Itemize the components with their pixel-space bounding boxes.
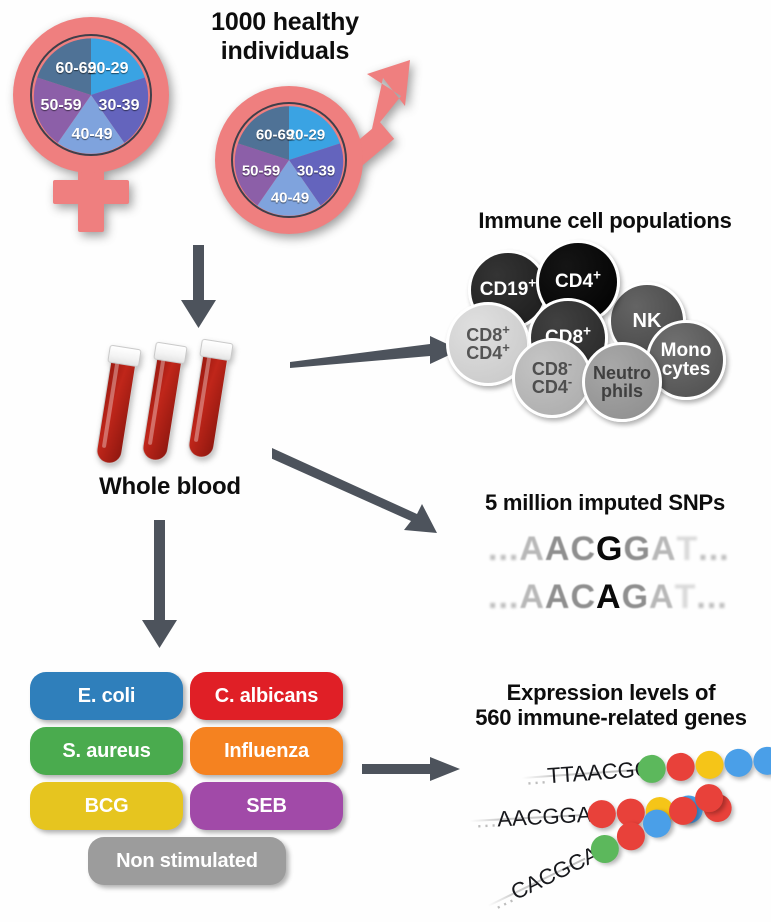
snp-sequence-block: ...AACGGAT... ...AACAGAT... [488,530,738,620]
bead [637,754,667,784]
snp-base: T [677,530,699,569]
strand-sequence: ...AACGGAT [475,801,603,834]
male-slice-label-40-49: 40-49 [271,190,309,207]
immune-cell-cluster: NK CD19+ CD4+ CD8+CD4+ CD8+ Monocytes CD… [460,240,765,420]
expression-strand: ...CACGCAA [481,769,747,921]
expression-heading: Expression levels of 560 immune-related … [455,680,767,731]
snp-base: A [519,578,545,617]
cell-label-cd4: CD4+ [555,272,601,291]
snp-base: T [675,578,697,617]
snp-ellipsis-left: ... [488,578,519,617]
genotype-heading: 5 million imputed SNPs [450,490,760,515]
female-symbol-crossbar [53,180,129,204]
arrow-blood-to-snps [272,448,462,538]
bead [666,752,696,782]
blood-tube-body [141,352,184,463]
bead [587,799,616,828]
expression-heading-line1: Expression levels of [455,680,767,705]
cell-label-nk: NK [633,311,662,331]
stimulation-item-influenza[interactable]: Influenza [190,727,343,775]
snp-ellipsis-right: ... [696,578,727,617]
arrow-cohort-to-blood [175,245,225,330]
female-age-pie: 20-29 30-39 40-49 50-59 60-69 [30,34,152,156]
strand-sequence: ...TTAACGG [525,756,653,791]
male-slice-label-60-69: 60-69 [256,127,294,144]
snp-base: C [570,530,596,569]
male-symbol: 20-29 30-39 40-49 50-59 60-69 [205,38,420,238]
snp-variant-base: G [596,530,623,569]
blood-tube-body [187,349,230,460]
expression-strand-group: ...TTAACGG ...AACGGAT ...CACGCAA [470,740,770,915]
stimulation-item-e-coli[interactable]: E. coli [30,672,183,720]
male-age-pie: 20-29 30-39 40-49 50-59 60-69 [231,102,347,218]
stimulation-item-non-stimulated[interactable]: Non stimulated [88,837,286,885]
snp-base: A [545,578,571,617]
female-symbol: 20-29 30-39 40-49 50-59 60-69 [8,12,178,237]
snp-sequence-allele-a: ...AACAGAT... [488,578,728,617]
expression-heading-line2: 560 immune-related genes [455,705,767,730]
snp-base: A [649,578,675,617]
arrow-stimulation-to-expression [362,753,467,785]
stimulation-item-seb[interactable]: SEB [190,782,343,830]
snp-ellipsis-left: ... [488,530,519,569]
snp-sequence-allele-g: ...AACGGAT... [488,530,730,569]
cell-label-monocytes: Monocytes [661,341,712,380]
blood-tube-gloss [148,360,165,446]
male-slice-label-30-39: 30-39 [297,163,335,180]
stimulation-panel: E. coli C. albicans S. aureus Influenza … [30,672,350,897]
snp-base: G [622,578,649,617]
blood-tube-body [95,355,138,466]
female-slice-label-60-69: 60-69 [56,60,97,78]
female-slice-label-50-59: 50-59 [41,97,82,115]
male-slice-label-50-59: 50-59 [242,163,280,180]
cell-neutrophils: Neutrophils [582,342,662,422]
blood-tube-gloss [194,357,211,443]
cell-cd8-cd4-double-negative: CD8-CD4- [512,338,592,418]
cell-label-neutrophils: Neutrophils [593,364,651,401]
arrow-blood-to-cells [290,330,465,370]
snp-base: C [570,578,596,617]
snp-ellipsis-right: ... [698,530,729,569]
blood-tube-gloss [102,363,119,449]
stimulation-item-s-aureus[interactable]: S. aureus [30,727,183,775]
snp-base: G [623,530,650,569]
strand-beads [637,746,771,784]
cell-label-cd19: CD19+ [480,280,537,299]
cell-label-cd8-cd4-dp: CD8+CD4+ [466,326,510,363]
snp-base: A [651,530,677,569]
snp-base: A [519,530,545,569]
snp-base: A [545,530,571,569]
bead [752,746,771,776]
female-slice-label-40-49: 40-49 [72,126,113,144]
whole-blood-label: Whole blood [60,473,280,501]
immune-cells-heading: Immune cell populations [450,208,760,233]
stimulation-item-bcg[interactable]: BCG [30,782,183,830]
stimulation-item-c-albicans[interactable]: C. albicans [190,672,343,720]
female-slice-label-30-39: 30-39 [99,97,140,115]
snp-variant-base: A [596,578,622,617]
whole-blood-group [95,335,265,495]
cell-label-cd8-cd4-dn: CD8-CD4- [532,360,572,397]
arrow-blood-to-stimulation [135,520,185,650]
